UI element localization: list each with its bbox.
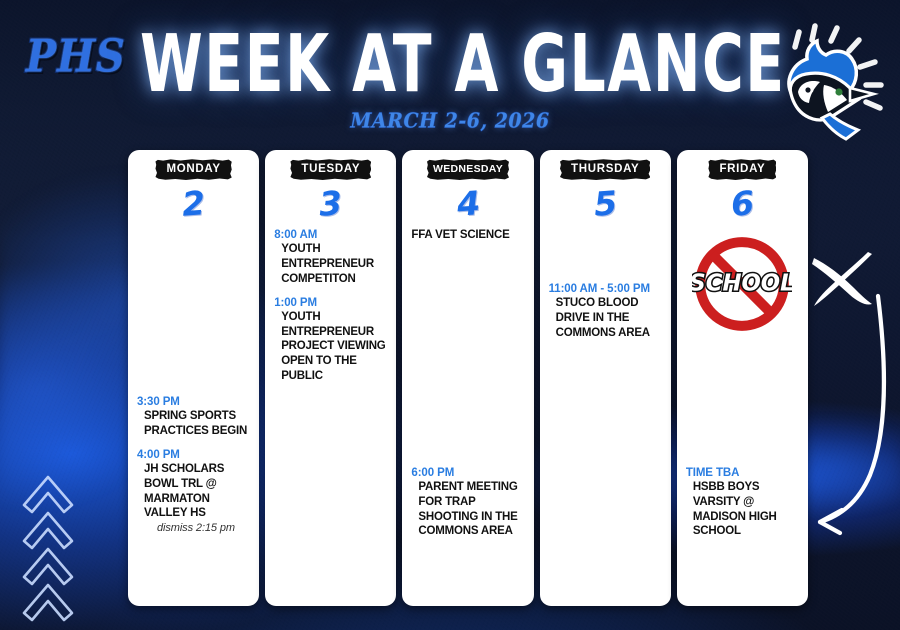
no-school-label: SCHOOL (692, 270, 792, 296)
event-description: PARENT MEETING FOR TRAP SHOOTING IN THE … (411, 480, 524, 539)
top-spacer (137, 220, 250, 395)
event-description: FFA VET SCIENCE (411, 228, 524, 243)
event-time: 3:30 PM (137, 395, 250, 409)
week-calendar: MONDAY23:30 PMSPRING SPORTS PRACTICES BE… (128, 150, 808, 606)
up-chevrons-icon (18, 465, 96, 625)
top-spacer (549, 220, 662, 282)
event-description: YOUTH ENTREPRENEUR COMPETITON (274, 242, 387, 286)
day-card-monday[interactable]: MONDAY23:30 PMSPRING SPORTS PRACTICES BE… (128, 150, 259, 606)
top-spacer (411, 220, 524, 228)
day-header: FRIDAY6 (684, 159, 801, 220)
flex-spacer (411, 252, 524, 466)
event-time: 1:00 PM (274, 296, 387, 310)
day-name-pill: THURSDAY (560, 159, 650, 180)
day-header: TUESDAY3 (272, 159, 389, 220)
event-item: 6:00 PMPARENT MEETING FOR TRAP SHOOTING … (411, 466, 524, 539)
event-description: HSBB BOYS VARSITY @ MADISON HIGH SCHOOL (686, 480, 799, 539)
day-card-thursday[interactable]: THURSDAY511:00 AM - 5:00 PMSTUCO BLOOD D… (540, 150, 671, 606)
event-time: 6:00 PM (411, 466, 524, 480)
event-item: FFA VET SCIENCE (411, 228, 524, 243)
blue-jay-mascot-icon (762, 22, 894, 150)
event-description: YOUTH ENTREPRENEUR PROJECT VIEWING OPEN … (274, 310, 387, 384)
event-description: JH SCHOLARS BOWL TRL @ MARMATON VALLEY H… (137, 462, 250, 521)
event-item: 1:00 PMYOUTH ENTREPRENEUR PROJECT VIEWIN… (274, 296, 387, 384)
day-card-wednesday[interactable]: WEDNESDAY4FFA VET SCIENCE6:00 PMPARENT M… (402, 150, 533, 606)
day-header: MONDAY2 (135, 159, 252, 220)
day-number: 6 (730, 186, 755, 221)
day-number: 2 (181, 186, 206, 221)
event-time: 4:00 PM (137, 448, 250, 462)
day-header: WEDNESDAY4 (409, 159, 526, 220)
day-events: SCHOOLTIME TBAHSBB BOYS VARSITY @ MADISO… (684, 220, 801, 596)
day-name-pill: FRIDAY (708, 159, 776, 180)
day-card-tuesday[interactable]: TUESDAY38:00 AMYOUTH ENTREPRENEUR COMPET… (265, 150, 396, 606)
day-events: FFA VET SCIENCE6:00 PMPARENT MEETING FOR… (409, 220, 526, 596)
event-time: TIME TBA (686, 466, 799, 480)
event-description: SPRING SPORTS PRACTICES BEGIN (137, 409, 250, 438)
event-time: 8:00 AM (274, 228, 387, 242)
flex-spacer (686, 334, 799, 466)
event-description: STUCO BLOOD DRIVE IN THE COMMONS AREA (549, 296, 662, 340)
event-item: TIME TBAHSBB BOYS VARSITY @ MADISON HIGH… (686, 466, 799, 539)
event-item: 8:00 AMYOUTH ENTREPRENEUR COMPETITON (274, 228, 387, 287)
top-spacer (274, 220, 387, 228)
day-number: 4 (455, 186, 480, 221)
day-name-pill: WEDNESDAY (427, 159, 509, 180)
day-events: 11:00 AM - 5:00 PMSTUCO BLOOD DRIVE IN T… (547, 220, 664, 596)
day-header: THURSDAY5 (547, 159, 664, 220)
event-item: 4:00 PMJH SCHOLARS BOWL TRL @ MARMATON V… (137, 448, 250, 536)
day-number: 3 (318, 186, 343, 221)
day-card-friday[interactable]: FRIDAY6SCHOOLTIME TBAHSBB BOYS VARSITY @… (677, 150, 808, 606)
day-name-pill: TUESDAY (290, 159, 371, 180)
bottom-spacer (686, 548, 799, 596)
event-note: dismiss 2:15 pm (137, 521, 250, 535)
event-item: 11:00 AM - 5:00 PMSTUCO BLOOD DRIVE IN T… (549, 282, 662, 341)
day-events: 8:00 AMYOUTH ENTREPRENEUR COMPETITON1:00… (272, 220, 389, 596)
day-number: 5 (593, 186, 618, 221)
day-events: 3:30 PMSPRING SPORTS PRACTICES BEGIN4:00… (135, 220, 252, 596)
curved-arrow-left-icon (800, 290, 896, 540)
no-school-icon: SCHOOL (692, 234, 792, 334)
day-name-pill: MONDAY (155, 159, 231, 180)
event-time: 11:00 AM - 5:00 PM (549, 282, 662, 296)
no-school-sign: SCHOOL (686, 234, 799, 334)
event-item: 3:30 PMSPRING SPORTS PRACTICES BEGIN (137, 395, 250, 439)
phs-logo: PHS (26, 30, 126, 83)
page-title: WEEK AT A GLANCE (140, 17, 772, 110)
bottom-spacer (411, 548, 524, 596)
